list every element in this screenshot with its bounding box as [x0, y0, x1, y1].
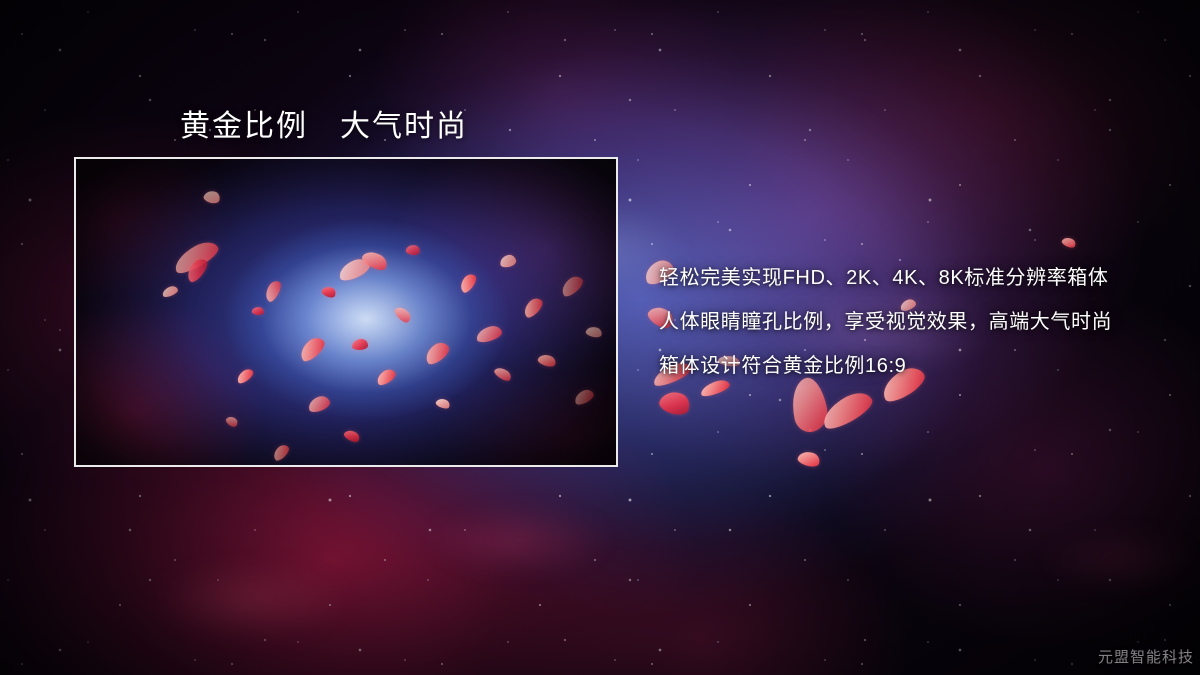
- framed-image-panel: [74, 157, 618, 467]
- slide-canvas: 黄金比例 大气时尚 轻松完美实现FHD、2K、4K、8K标准分辨率箱体 人体眼睛…: [0, 0, 1200, 675]
- slide-title: 黄金比例 大气时尚: [180, 101, 468, 145]
- panel-vignette: [76, 159, 616, 465]
- body-line-1: 轻松完美实现FHD、2K、4K、8K标准分辨率箱体: [659, 256, 1179, 300]
- body-line-2: 人体眼睛瞳孔比例，享受视觉效果，高端大气时尚: [659, 300, 1179, 344]
- body-line-3: 箱体设计符合黄金比例16:9: [659, 344, 1179, 388]
- body-text-block: 轻松完美实现FHD、2K、4K、8K标准分辨率箱体 人体眼睛瞳孔比例，享受视觉效…: [659, 256, 1179, 388]
- watermark-label: 元盟智能科技: [1098, 646, 1194, 667]
